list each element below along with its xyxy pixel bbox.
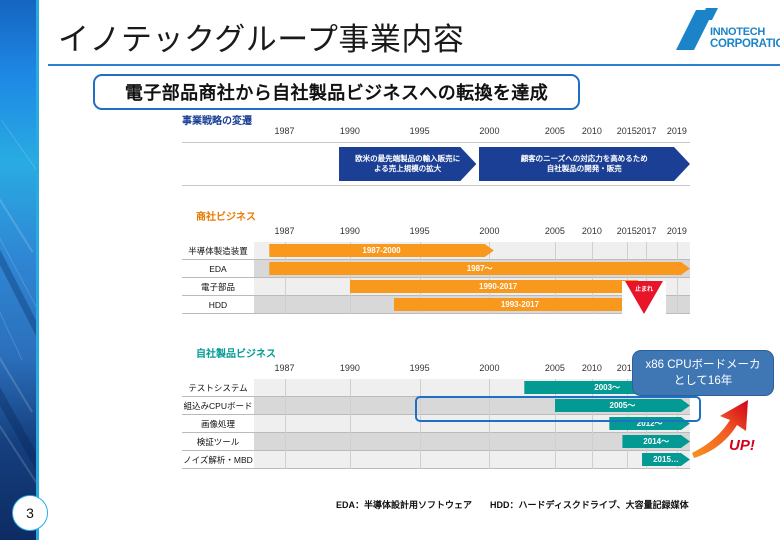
product-axis: 198719901995200020052010201520172019 bbox=[182, 363, 690, 377]
grid-line bbox=[350, 296, 351, 314]
title-divider bbox=[48, 64, 780, 66]
timeline-bar: 1993-2017 bbox=[394, 298, 647, 311]
grid-line bbox=[555, 451, 556, 469]
grid-line bbox=[677, 242, 678, 260]
grid-line bbox=[592, 242, 593, 260]
trading-axis: 198719901995200020052010201520172019 bbox=[182, 226, 690, 240]
grid-line bbox=[555, 415, 556, 433]
stop-triangle-icon: 止まれ bbox=[625, 281, 663, 314]
timeline-row-label: 画像処理 bbox=[182, 415, 254, 433]
grid-line bbox=[677, 278, 678, 296]
axis-year-label: 1987 bbox=[275, 226, 295, 236]
timeline-bar: 2012～ bbox=[609, 417, 690, 430]
axis-year-label: 2005 bbox=[545, 363, 565, 373]
axis-year-label: 1990 bbox=[340, 226, 360, 236]
curved-up-arrow-icon bbox=[690, 398, 770, 468]
grid-line bbox=[350, 379, 351, 397]
grid-line bbox=[285, 379, 286, 397]
logo-wordmark: INNOTECH CORPORATION bbox=[710, 26, 776, 50]
grid-line bbox=[285, 296, 286, 314]
innotech-logo: INNOTECH CORPORATION bbox=[670, 6, 774, 60]
grid-line bbox=[420, 397, 421, 415]
grid-line bbox=[285, 433, 286, 451]
axis-year-label: 2000 bbox=[479, 226, 499, 236]
axis-year-label: 2017 bbox=[636, 226, 656, 236]
axis-year-label: 1987 bbox=[275, 126, 295, 136]
grid-line bbox=[420, 451, 421, 469]
axis-year-label: 1990 bbox=[340, 363, 360, 373]
axis-year-label: 1990 bbox=[340, 126, 360, 136]
grid-line bbox=[489, 397, 490, 415]
grid-line bbox=[592, 451, 593, 469]
grid-line bbox=[677, 296, 678, 314]
axis-year-label: 2010 bbox=[582, 363, 602, 373]
axis-year-label: 2010 bbox=[582, 126, 602, 136]
axis-year-label: 2015 bbox=[617, 126, 637, 136]
axis-year-label: 1995 bbox=[410, 226, 430, 236]
grid-line bbox=[555, 433, 556, 451]
grid-line bbox=[489, 433, 490, 451]
left-decoration-band bbox=[0, 0, 36, 540]
grid-line bbox=[350, 415, 351, 433]
timeline-row-label: 組込みCPUボード bbox=[182, 397, 254, 415]
grid-line bbox=[285, 415, 286, 433]
strategy-axis: 198719901995200020052010201520172019 bbox=[182, 126, 690, 140]
page-title: イノテックグループ事業内容 bbox=[58, 10, 618, 62]
callout-box: x86 CPUボードメーカ として16年 bbox=[632, 350, 774, 396]
grid-line bbox=[420, 415, 421, 433]
slide: イノテックグループ事業内容 INNOTECH CORPORATION 電子部品商… bbox=[0, 0, 780, 540]
callout-line2: として16年 bbox=[645, 373, 760, 389]
grid-line bbox=[555, 242, 556, 260]
grid-line bbox=[420, 379, 421, 397]
grid-line bbox=[592, 415, 593, 433]
page-number: 3 bbox=[12, 495, 48, 531]
trading-timeline: 198719901995200020052010201520172019 半導体… bbox=[182, 226, 690, 314]
up-arrow-label: UP! bbox=[729, 437, 755, 454]
grid-line bbox=[646, 242, 647, 260]
timeline-row-label: 電子部品 bbox=[182, 278, 254, 296]
footnote: EDA：半導体設計用ソフトウェア HDD：ハードディスクドライブ、大容量記録媒体 bbox=[336, 498, 689, 511]
timeline-bar: 2005～ bbox=[555, 399, 690, 412]
timeline-bar: 2014～ bbox=[622, 435, 690, 448]
timeline-bar: 2015… bbox=[642, 453, 690, 466]
axis-year-label: 2000 bbox=[479, 363, 499, 373]
section-heading-strategy: 事業戦略の変遷 bbox=[182, 112, 252, 127]
headline-banner: 電子部品商社から自社製品ビジネスへの転換を達成 bbox=[93, 74, 580, 110]
grid-line bbox=[489, 415, 490, 433]
section-heading-trading: 商社ビジネス bbox=[196, 208, 256, 223]
axis-year-label: 2019 bbox=[667, 226, 687, 236]
grid-line bbox=[627, 451, 628, 469]
timeline-row-label: ノイズ解析・MBD bbox=[182, 451, 254, 469]
strategy-arrow: 欧米の最先端製品の輸入販売による売上規模の拡大 bbox=[339, 147, 476, 181]
timeline-row-label: 検証ツール bbox=[182, 433, 254, 451]
timeline-row-label: テストシステム bbox=[182, 379, 254, 397]
grid-line bbox=[285, 397, 286, 415]
axis-year-label: 2005 bbox=[545, 126, 565, 136]
timeline-row-label: 半導体製造装置 bbox=[182, 242, 254, 260]
strategy-arrow: 顧客のニーズへの対応力を高めるため自社製品の開発・販売 bbox=[479, 147, 690, 181]
axis-year-label: 2019 bbox=[667, 126, 687, 136]
timeline-bar: 1990-2017 bbox=[350, 280, 646, 293]
left-band-edge bbox=[36, 0, 39, 540]
timeline-bar: 1987～ bbox=[269, 262, 690, 275]
axis-year-label: 2015 bbox=[617, 226, 637, 236]
grid-line bbox=[350, 433, 351, 451]
axis-year-label: 2005 bbox=[545, 226, 565, 236]
stop-sign-label: 止まれ bbox=[635, 284, 653, 293]
axis-year-label: 1995 bbox=[410, 126, 430, 136]
strategy-timeline: 198719901995200020052010201520172019 欧米の… bbox=[182, 126, 690, 186]
grid-line bbox=[592, 433, 593, 451]
grid-line bbox=[285, 278, 286, 296]
grid-line bbox=[285, 451, 286, 469]
logo-line1: INNOTECH bbox=[710, 26, 765, 38]
own-products-timeline: 198719901995200020052010201520172019 テスト… bbox=[182, 363, 690, 475]
axis-year-label: 2017 bbox=[636, 126, 656, 136]
strategy-band: 欧米の最先端製品の輸入販売による売上規模の拡大顧客のニーズへの対応力を高めるため… bbox=[182, 142, 690, 186]
timeline-row-background bbox=[254, 451, 690, 469]
axis-year-label: 2010 bbox=[582, 226, 602, 236]
grid-line bbox=[489, 451, 490, 469]
logo-line2: CORPORATION bbox=[710, 38, 776, 50]
timeline-row-label: EDA bbox=[182, 260, 254, 278]
axis-year-label: 1995 bbox=[410, 363, 430, 373]
grid-line bbox=[350, 397, 351, 415]
stop-sign: 止まれ bbox=[622, 281, 666, 317]
grid-line bbox=[350, 451, 351, 469]
grid-line bbox=[627, 242, 628, 260]
grid-line bbox=[420, 433, 421, 451]
timeline-row-label: HDD bbox=[182, 296, 254, 314]
timeline-bar: 1987-2000 bbox=[269, 244, 494, 257]
axis-year-label: 2000 bbox=[479, 126, 499, 136]
axis-year-label: 1987 bbox=[275, 363, 295, 373]
section-heading-own-products: 自社製品ビジネス bbox=[196, 345, 276, 360]
grid-line bbox=[489, 379, 490, 397]
callout-line1: x86 CPUボードメーカ bbox=[645, 357, 760, 373]
